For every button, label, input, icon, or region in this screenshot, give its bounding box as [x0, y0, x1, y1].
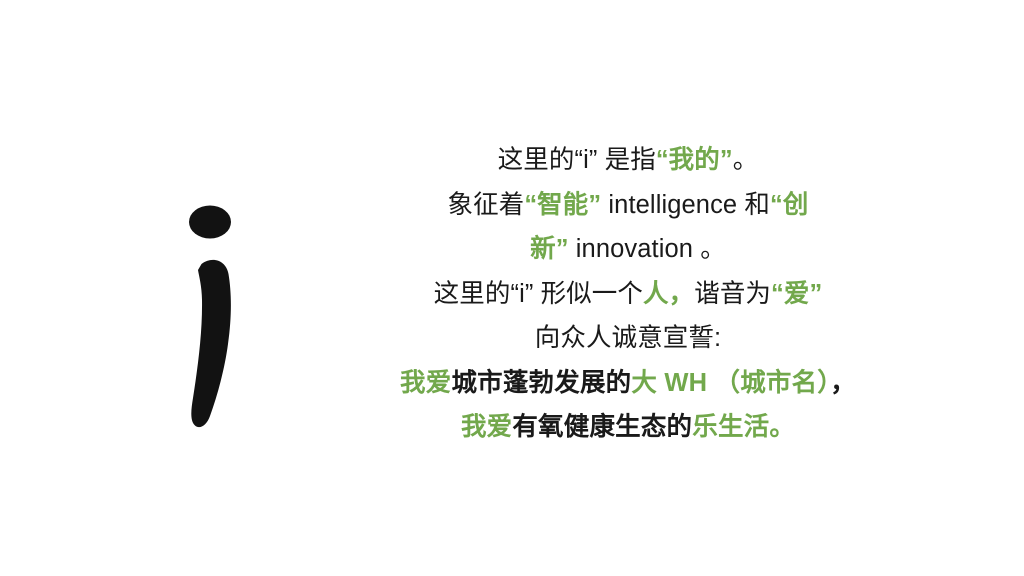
body-line-6: 我爱城市蓬勃发展的大 WH （城市名）， [382, 361, 874, 406]
line6-seg-body: 城市蓬勃发展的 [451, 369, 631, 397]
line4-seg-xieyinwei: 谐音为 [694, 280, 771, 308]
line7-seg-accent-woai: 我爱 [461, 413, 512, 441]
line7-seg-accent-leshenghuo: 乐生活。 [692, 413, 795, 441]
line4-seg-accent-ai: “爱” [771, 280, 822, 308]
line4-seg-mid: ” 形似一个 [525, 280, 643, 308]
line3-seg-accent-xin: 新” [530, 235, 568, 263]
line2-seg-prefix: 象征着 [448, 191, 525, 219]
body-line-5: 向众人诚意宣誓: [382, 316, 874, 361]
line2-seg-intelligence: intelligence [601, 191, 744, 219]
body-line-2: 象征着“智能” intelligence 和“创 [382, 183, 874, 228]
line6-seg-accent-woai: 我爱 [400, 369, 451, 397]
line6-seg-comma: ， [830, 369, 856, 397]
line2-seg-accent-zhineng: “智能” [524, 191, 601, 219]
line1-seg-accent: “我的” [656, 146, 733, 174]
line1-seg-prefix: 这里的“ [498, 146, 583, 174]
body-line-7: 我爱有氧健康生态的乐生活。 [382, 405, 874, 450]
line5-seg-text: 向众人诚意宣誓: [535, 324, 721, 352]
line4-seg-accent-ren: 人， [643, 280, 694, 308]
line6-seg-accent-da-wh: 大 WH [631, 369, 714, 397]
line6-seg-accent-cityname: （城市名） [715, 369, 831, 397]
slide-canvas: 这里的“i” 是指“我的”。 象征着“智能” intelligence 和“创 … [0, 0, 1024, 576]
line1-seg-period: 。 [733, 146, 759, 174]
brush-letter-i-logo [160, 182, 290, 440]
body-line-1: 这里的“i” 是指“我的”。 [382, 138, 874, 183]
slide-body-text: 这里的“i” 是指“我的”。 象征着“智能” intelligence 和“创 … [382, 138, 874, 450]
line3-seg-period: 。 [700, 235, 726, 263]
line2-seg-accent-chuang: “创 [770, 191, 808, 219]
line3-seg-innovation: innovation [569, 235, 701, 263]
line4-seg-prefix: 这里的“ [434, 280, 519, 308]
body-line-3: 新” innovation 。 [382, 227, 874, 272]
line1-seg-mid: ” 是指 [589, 146, 656, 174]
line2-seg-he: 和 [744, 191, 770, 219]
line7-seg-body: 有氧健康生态的 [512, 413, 692, 441]
body-line-4: 这里的“i” 形似一个人，谐音为“爱” [382, 272, 874, 317]
brush-i-stem [191, 260, 231, 427]
brush-i-dot [189, 206, 231, 239]
